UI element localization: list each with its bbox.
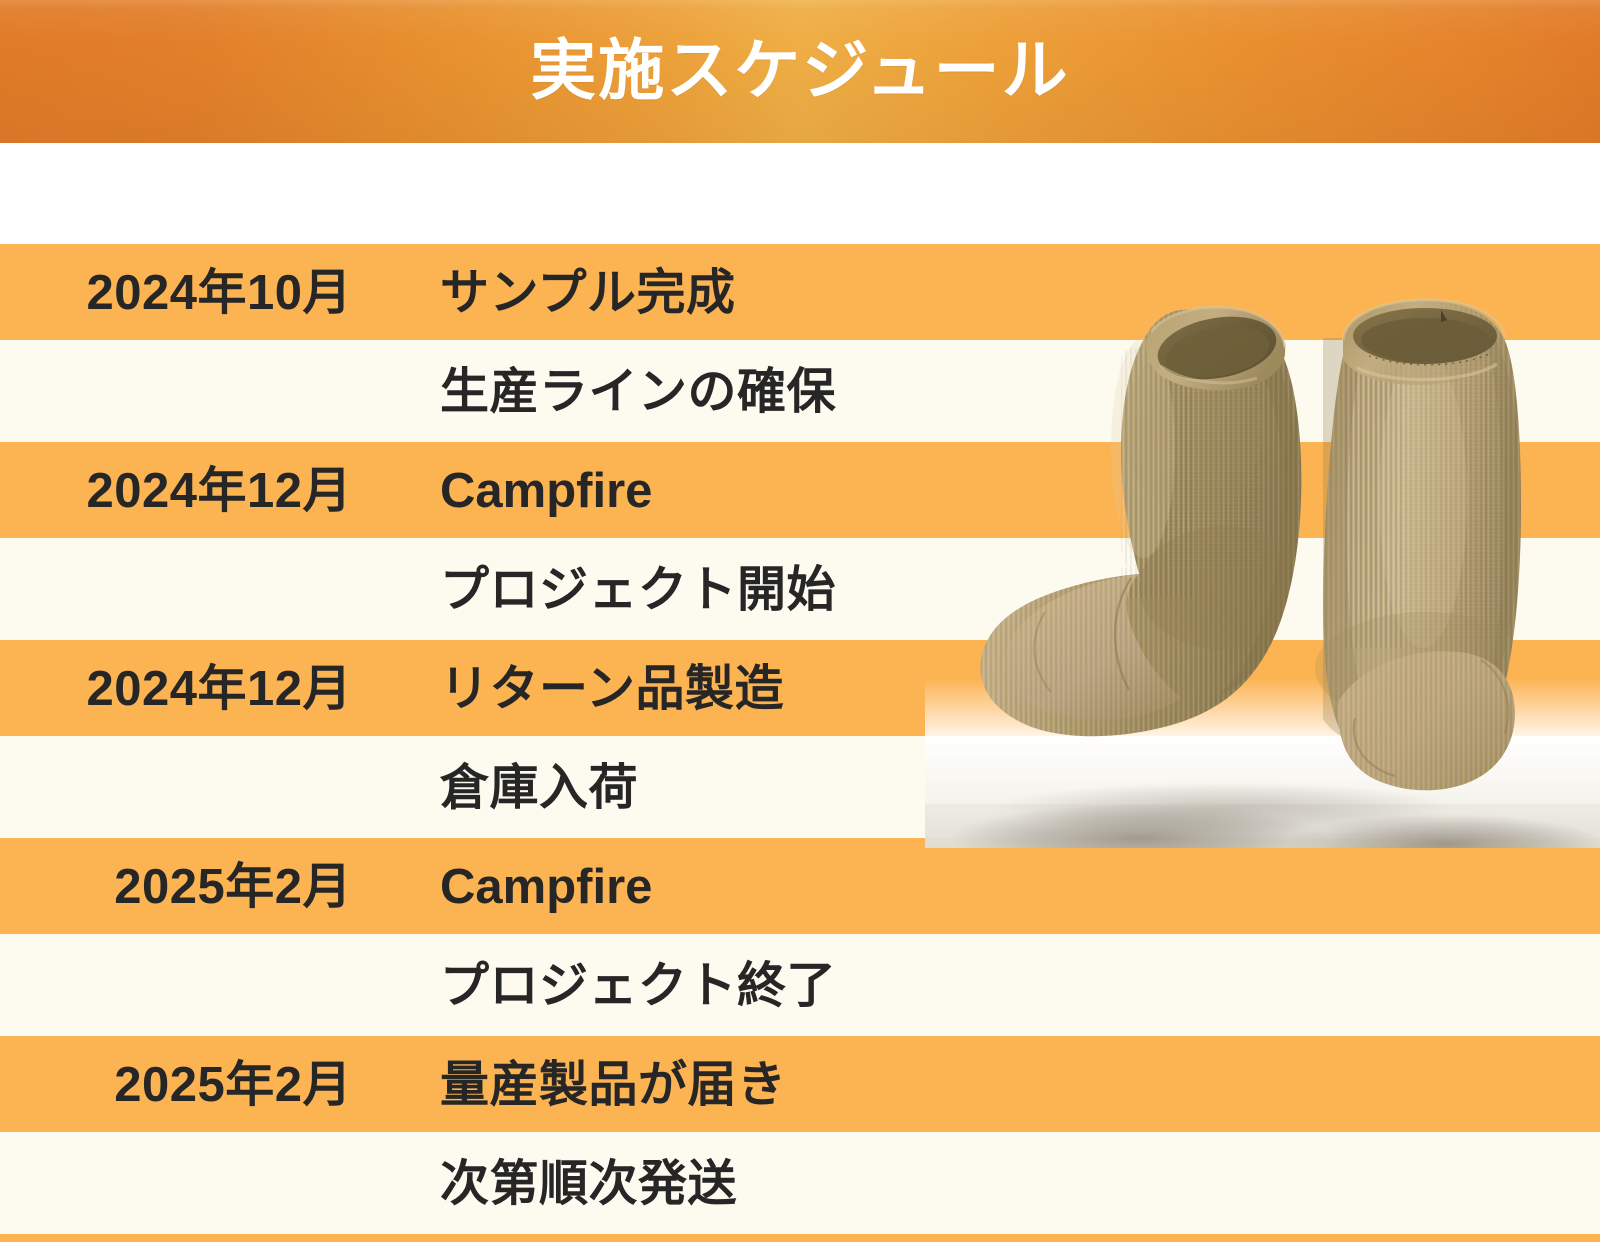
page-title: 実施スケジュール (530, 37, 1069, 103)
table-row: 2024年10月 サンプル完成 生産ラインの確保 (0, 244, 1600, 442)
schedule-line-primary: 2025年2月 量産製品が届き (0, 1036, 1600, 1135)
schedule-description-cont: プロジェクト終了 (440, 962, 836, 1011)
schedule-date: 2024年12月 (0, 665, 352, 714)
schedule-description: Campfire (440, 467, 652, 516)
schedule-table: 2024年10月 サンプル完成 生産ラインの確保 2024年12月 Campfi… (0, 244, 1600, 1242)
schedule-date: 2025年2月 (0, 863, 352, 912)
schedule-line-secondary: 次第順次発送 (0, 1135, 1600, 1234)
table-row: 2025年2月 量産製品が届き 次第順次発送 (0, 1036, 1600, 1234)
schedule-description-cont: プロジェクト開始 (440, 566, 836, 615)
schedule-date: 2024年12月 (0, 467, 352, 516)
schedule-description: Campfire (440, 863, 652, 912)
table-row: 2024年12月 Campfire プロジェクト開始 (0, 442, 1600, 640)
header-banner: 実施スケジュール (0, 0, 1600, 143)
schedule-line-secondary: プロジェクト開始 (0, 541, 1600, 640)
schedule-description-cont: 倉庫入荷 (440, 764, 638, 813)
schedule-line-primary: 2024年12月 Campfire (0, 442, 1600, 541)
schedule-date: 2024年10月 (0, 269, 352, 318)
schedule-line-primary: 2025年2月 Campfire (0, 838, 1600, 937)
header-gap-spacer (0, 143, 1600, 244)
schedule-line-secondary: プロジェクト終了 (0, 937, 1600, 1036)
schedule-description-cont: 次第順次発送 (440, 1160, 737, 1209)
schedule-slide: 実施スケジュール 2024年10月 サンプル完成 生産ラインの確保 2024年1… (0, 0, 1600, 1242)
schedule-line-secondary: 生産ラインの確保 (0, 343, 1600, 442)
schedule-line-primary: 2024年12月 リターン品製造 (0, 640, 1600, 739)
schedule-description: 量産製品が届き (440, 1061, 787, 1110)
schedule-date: 2025年2月 (0, 1061, 352, 1110)
schedule-line-primary: 2024年10月 サンプル完成 (0, 244, 1600, 343)
schedule-description: サンプル完成 (440, 269, 736, 318)
schedule-description: リターン品製造 (440, 665, 784, 714)
schedule-line-secondary: 倉庫入荷 (0, 739, 1600, 838)
table-row: 2024年12月 リターン品製造 倉庫入荷 (0, 640, 1600, 838)
schedule-description-cont: 生産ラインの確保 (440, 368, 836, 417)
table-row: 2025年2月 Campfire プロジェクト終了 (0, 838, 1600, 1036)
